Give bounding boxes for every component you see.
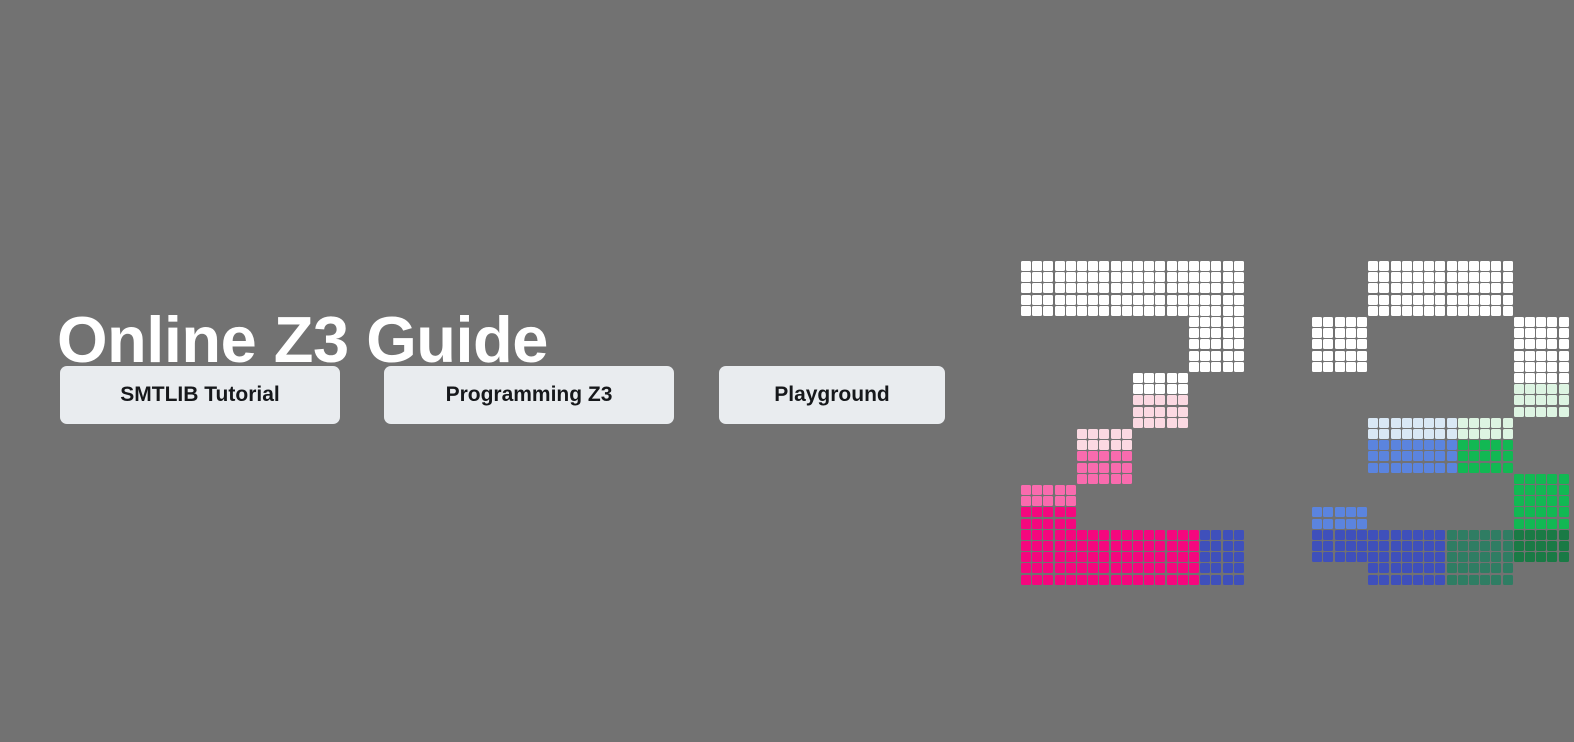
logo-pixel xyxy=(1536,395,1546,405)
logo-pixel xyxy=(1133,530,1143,540)
logo-pixel xyxy=(1088,463,1098,473)
logo-pixel xyxy=(1447,530,1457,540)
logo-pixel xyxy=(1435,451,1445,461)
logo-pixel xyxy=(1111,575,1121,585)
logo-pixel xyxy=(1424,463,1434,473)
logo-pixel xyxy=(1234,317,1244,327)
logo-pixel xyxy=(1312,339,1322,349)
logo-pixel xyxy=(1032,552,1042,562)
logo-pixel xyxy=(1178,541,1188,551)
logo-pixel xyxy=(1447,283,1457,293)
logo-pixel xyxy=(1402,272,1412,282)
logo-pixel xyxy=(1559,317,1569,327)
logo-pixel xyxy=(1447,552,1457,562)
logo-pixel xyxy=(1167,373,1177,383)
logo-pixel xyxy=(1469,418,1479,428)
logo-pixel xyxy=(1559,530,1569,540)
logo-pixel xyxy=(1525,552,1535,562)
logo-pixel xyxy=(1391,563,1401,573)
logo-pixel xyxy=(1155,295,1165,305)
logo-pixel xyxy=(1413,552,1423,562)
logo-pixel xyxy=(1077,541,1087,551)
logo-pixel xyxy=(1346,317,1356,327)
logo-pixel xyxy=(1413,575,1423,585)
logo-pixel xyxy=(1211,283,1221,293)
logo-pixel xyxy=(1547,373,1557,383)
logo-pixel xyxy=(1435,429,1445,439)
logo-pixel xyxy=(1043,496,1053,506)
logo-pixel xyxy=(1111,530,1121,540)
logo-pixel xyxy=(1021,295,1031,305)
logo-pixel xyxy=(1335,328,1345,338)
page-title: Online Z3 Guide xyxy=(57,307,548,372)
logo-pixel xyxy=(1447,418,1457,428)
logo-pixel xyxy=(1547,474,1557,484)
logo-pixel xyxy=(1223,541,1233,551)
logo-pixel xyxy=(1379,272,1389,282)
logo-pixel xyxy=(1122,295,1132,305)
logo-pixel xyxy=(1503,429,1513,439)
logo-pixel xyxy=(1122,530,1132,540)
logo-pixel xyxy=(1491,563,1501,573)
logo-pixel xyxy=(1077,474,1087,484)
logo-pixel xyxy=(1211,552,1221,562)
logo-pixel xyxy=(1458,272,1468,282)
logo-pixel xyxy=(1312,541,1322,551)
logo-pixel xyxy=(1066,272,1076,282)
logo-pixel xyxy=(1379,429,1389,439)
logo-pixel xyxy=(1480,295,1490,305)
logo-pixel xyxy=(1402,463,1412,473)
logo-pixel xyxy=(1435,283,1445,293)
logo-pixel xyxy=(1435,541,1445,551)
logo-pixel xyxy=(1402,451,1412,461)
logo-pixel xyxy=(1178,306,1188,316)
logo-pixel xyxy=(1525,384,1535,394)
logo-pixel xyxy=(1178,395,1188,405)
logo-pixel xyxy=(1335,507,1345,517)
logo-pixel xyxy=(1167,530,1177,540)
logo-pixel xyxy=(1335,351,1345,361)
logo-pixel xyxy=(1491,261,1501,271)
logo-pixel xyxy=(1368,306,1378,316)
logo-pixel xyxy=(1480,283,1490,293)
logo-pixel xyxy=(1346,519,1356,529)
logo-pixel xyxy=(1469,575,1479,585)
logo-pixel xyxy=(1155,575,1165,585)
logo-pixel xyxy=(1379,541,1389,551)
logo-pixel xyxy=(1413,418,1423,428)
logo-pixel xyxy=(1458,418,1468,428)
logo-pixel xyxy=(1323,351,1333,361)
logo-pixel xyxy=(1402,283,1412,293)
logo-pixel xyxy=(1234,563,1244,573)
logo-pixel xyxy=(1223,317,1233,327)
logo-pixel xyxy=(1167,283,1177,293)
logo-pixel xyxy=(1391,429,1401,439)
logo-pixel xyxy=(1032,563,1042,573)
logo-pixel xyxy=(1402,418,1412,428)
logo-pixel xyxy=(1547,395,1557,405)
logo-pixel xyxy=(1435,563,1445,573)
logo-pixel xyxy=(1514,485,1524,495)
logo-pixel xyxy=(1189,328,1199,338)
logo-pixel xyxy=(1099,575,1109,585)
logo-pixel xyxy=(1043,261,1053,271)
logo-pixel xyxy=(1111,272,1121,282)
logo-pixel xyxy=(1559,496,1569,506)
logo-pixel xyxy=(1447,261,1457,271)
logo-pixel xyxy=(1312,519,1322,529)
logo-pixel xyxy=(1200,563,1210,573)
logo-pixel xyxy=(1211,541,1221,551)
smtlib-tutorial-button[interactable]: SMTLIB Tutorial xyxy=(60,366,340,424)
logo-pixel xyxy=(1469,552,1479,562)
logo-pixel xyxy=(1559,395,1569,405)
logo-pixel xyxy=(1536,351,1546,361)
logo-pixel xyxy=(1055,261,1065,271)
logo-pixel xyxy=(1167,552,1177,562)
logo-pixel xyxy=(1391,283,1401,293)
logo-pixel xyxy=(1525,373,1535,383)
logo-pixel xyxy=(1122,563,1132,573)
logo-pixel xyxy=(1099,474,1109,484)
logo-pixel xyxy=(1525,541,1535,551)
logo-pixel xyxy=(1458,541,1468,551)
logo-pixel xyxy=(1559,328,1569,338)
logo-pixel xyxy=(1155,261,1165,271)
logo-pixel xyxy=(1424,306,1434,316)
logo-pixel xyxy=(1021,272,1031,282)
logo-pixel xyxy=(1155,418,1165,428)
logo-pixel xyxy=(1503,418,1513,428)
logo-pixel xyxy=(1088,306,1098,316)
logo-pixel xyxy=(1178,261,1188,271)
logo-pixel xyxy=(1536,519,1546,529)
logo-pixel xyxy=(1559,339,1569,349)
logo-pixel xyxy=(1077,530,1087,540)
logo-pixel xyxy=(1368,575,1378,585)
logo-pixel xyxy=(1480,306,1490,316)
logo-pixel xyxy=(1088,474,1098,484)
logo-pixel xyxy=(1077,306,1087,316)
logo-pixel xyxy=(1357,362,1367,372)
logo-pixel xyxy=(1189,295,1199,305)
logo-pixel xyxy=(1122,552,1132,562)
logo-pixel xyxy=(1200,530,1210,540)
logo-pixel xyxy=(1547,317,1557,327)
logo-pixel xyxy=(1088,451,1098,461)
logo-pixel xyxy=(1088,552,1098,562)
logo-pixel xyxy=(1144,418,1154,428)
logo-pixel xyxy=(1379,463,1389,473)
logo-pixel xyxy=(1223,306,1233,316)
logo-pixel xyxy=(1155,395,1165,405)
logo-pixel xyxy=(1189,563,1199,573)
playground-button[interactable]: Playground xyxy=(719,366,945,424)
logo-pixel xyxy=(1021,519,1031,529)
logo-pixel xyxy=(1122,261,1132,271)
logo-pixel xyxy=(1402,552,1412,562)
logo-pixel xyxy=(1088,530,1098,540)
logo-pixel xyxy=(1424,451,1434,461)
logo-pixel xyxy=(1335,552,1345,562)
logo-pixel xyxy=(1122,306,1132,316)
logo-pixel xyxy=(1178,384,1188,394)
programming-z3-button[interactable]: Programming Z3 xyxy=(384,366,674,424)
logo-pixel xyxy=(1514,407,1524,417)
logo-pixel xyxy=(1032,519,1042,529)
logo-pixel xyxy=(1559,541,1569,551)
logo-pixel xyxy=(1469,261,1479,271)
logo-pixel xyxy=(1357,351,1367,361)
logo-pixel xyxy=(1458,306,1468,316)
logo-pixel xyxy=(1211,530,1221,540)
logo-pixel xyxy=(1503,440,1513,450)
logo-pixel xyxy=(1536,384,1546,394)
logo-pixel xyxy=(1133,575,1143,585)
logo-pixel xyxy=(1021,563,1031,573)
logo-pixel xyxy=(1211,339,1221,349)
logo-pixel xyxy=(1547,496,1557,506)
logo-pixel xyxy=(1189,317,1199,327)
logo-pixel xyxy=(1514,519,1524,529)
logo-pixel xyxy=(1491,418,1501,428)
logo-pixel xyxy=(1144,541,1154,551)
logo-pixel xyxy=(1122,440,1132,450)
logo-pixel xyxy=(1021,496,1031,506)
logo-pixel xyxy=(1088,295,1098,305)
logo-pixel xyxy=(1379,261,1389,271)
logo-pixel xyxy=(1424,563,1434,573)
logo-pixel xyxy=(1021,575,1031,585)
logo-pixel xyxy=(1413,563,1423,573)
logo-pixel xyxy=(1077,563,1087,573)
logo-pixel xyxy=(1234,339,1244,349)
logo-pixel xyxy=(1547,519,1557,529)
logo-pixel xyxy=(1525,496,1535,506)
logo-pixel xyxy=(1200,306,1210,316)
logo-pixel xyxy=(1099,563,1109,573)
logo-pixel xyxy=(1458,295,1468,305)
logo-pixel xyxy=(1223,351,1233,361)
logo-pixel xyxy=(1234,575,1244,585)
logo-pixel xyxy=(1480,272,1490,282)
logo-pixel xyxy=(1514,339,1524,349)
logo-pixel xyxy=(1178,552,1188,562)
logo-pixel xyxy=(1323,541,1333,551)
logo-pixel xyxy=(1043,272,1053,282)
logo-pixel xyxy=(1435,418,1445,428)
z3-pixel-logo xyxy=(1021,261,1521,586)
logo-pixel xyxy=(1066,575,1076,585)
logo-pixel xyxy=(1234,552,1244,562)
logo-pixel xyxy=(1144,563,1154,573)
logo-pixel xyxy=(1424,418,1434,428)
logo-pixel xyxy=(1368,552,1378,562)
logo-pixel xyxy=(1559,407,1569,417)
logo-pixel xyxy=(1480,552,1490,562)
logo-pixel xyxy=(1043,295,1053,305)
logo-pixel xyxy=(1514,351,1524,361)
logo-pixel xyxy=(1379,552,1389,562)
logo-pixel xyxy=(1503,563,1513,573)
logo-pixel xyxy=(1167,563,1177,573)
logo-pixel xyxy=(1413,530,1423,540)
logo-pixel xyxy=(1211,362,1221,372)
logo-pixel xyxy=(1088,440,1098,450)
logo-pixel xyxy=(1402,261,1412,271)
logo-pixel xyxy=(1391,541,1401,551)
logo-pixel xyxy=(1189,351,1199,361)
logo-pixel xyxy=(1559,485,1569,495)
logo-pixel xyxy=(1402,295,1412,305)
logo-pixel xyxy=(1144,283,1154,293)
logo-pixel xyxy=(1514,552,1524,562)
logo-pixel xyxy=(1559,373,1569,383)
logo-pixel xyxy=(1435,440,1445,450)
logo-pixel xyxy=(1447,451,1457,461)
logo-pixel xyxy=(1447,272,1457,282)
logo-pixel xyxy=(1447,463,1457,473)
logo-pixel xyxy=(1458,283,1468,293)
logo-pixel xyxy=(1447,440,1457,450)
logo-pixel xyxy=(1491,272,1501,282)
logo-pixel xyxy=(1144,295,1154,305)
logo-pixel xyxy=(1043,541,1053,551)
logo-pixel xyxy=(1346,351,1356,361)
logo-pixel xyxy=(1223,328,1233,338)
logo-pixel xyxy=(1391,463,1401,473)
logo-pixel xyxy=(1223,563,1233,573)
logo-pixel xyxy=(1368,261,1378,271)
logo-pixel xyxy=(1111,429,1121,439)
logo-pixel xyxy=(1514,362,1524,372)
logo-pixel xyxy=(1346,339,1356,349)
logo-pixel xyxy=(1111,306,1121,316)
logo-pixel xyxy=(1032,575,1042,585)
logo-pixel xyxy=(1346,552,1356,562)
logo-pixel xyxy=(1055,507,1065,517)
logo-pixel xyxy=(1536,328,1546,338)
logo-pixel xyxy=(1077,283,1087,293)
logo-pixel xyxy=(1514,384,1524,394)
logo-pixel xyxy=(1234,283,1244,293)
logo-pixel xyxy=(1368,440,1378,450)
logo-pixel xyxy=(1514,395,1524,405)
logo-pixel xyxy=(1066,306,1076,316)
logo-pixel xyxy=(1223,283,1233,293)
logo-pixel xyxy=(1021,283,1031,293)
logo-pixel xyxy=(1435,552,1445,562)
logo-pixel xyxy=(1144,272,1154,282)
logo-pixel xyxy=(1032,306,1042,316)
logo-pixel xyxy=(1200,541,1210,551)
logo-pixel xyxy=(1335,530,1345,540)
logo-pixel xyxy=(1323,507,1333,517)
logo-pixel xyxy=(1536,362,1546,372)
logo-pixel xyxy=(1547,530,1557,540)
logo-pixel xyxy=(1435,295,1445,305)
logo-pixel xyxy=(1559,384,1569,394)
logo-pixel xyxy=(1514,496,1524,506)
logo-pixel xyxy=(1559,362,1569,372)
logo-pixel xyxy=(1155,407,1165,417)
logo-pixel xyxy=(1155,530,1165,540)
logo-pixel xyxy=(1547,552,1557,562)
logo-pixel xyxy=(1357,552,1367,562)
logo-pixel xyxy=(1066,552,1076,562)
logo-pixel xyxy=(1099,552,1109,562)
logo-pixel xyxy=(1111,463,1121,473)
logo-pixel xyxy=(1536,485,1546,495)
logo-pixel xyxy=(1525,474,1535,484)
logo-pixel xyxy=(1077,295,1087,305)
logo-pixel xyxy=(1357,541,1367,551)
logo-pixel xyxy=(1223,575,1233,585)
logo-pixel xyxy=(1122,451,1132,461)
logo-pixel xyxy=(1155,541,1165,551)
logo-pixel xyxy=(1088,283,1098,293)
logo-pixel xyxy=(1189,283,1199,293)
logo-pixel xyxy=(1211,261,1221,271)
logo-pixel xyxy=(1458,440,1468,450)
logo-pixel xyxy=(1133,295,1143,305)
logo-pixel xyxy=(1133,373,1143,383)
logo-pixel xyxy=(1424,575,1434,585)
logo-pixel xyxy=(1536,373,1546,383)
logo-pixel xyxy=(1525,530,1535,540)
logo-pixel xyxy=(1144,373,1154,383)
logo-pixel xyxy=(1178,295,1188,305)
logo-pixel xyxy=(1503,530,1513,540)
logo-pixel xyxy=(1055,272,1065,282)
logo-pixel xyxy=(1077,261,1087,271)
logo-pixel xyxy=(1357,507,1367,517)
logo-pixel xyxy=(1155,563,1165,573)
logo-pixel xyxy=(1312,351,1322,361)
logo-pixel xyxy=(1391,261,1401,271)
logo-pixel xyxy=(1368,463,1378,473)
logo-pixel xyxy=(1391,272,1401,282)
logo-pixel xyxy=(1200,283,1210,293)
logo-pixel xyxy=(1144,395,1154,405)
logo-pixel xyxy=(1480,451,1490,461)
logo-pixel xyxy=(1525,317,1535,327)
logo-pixel xyxy=(1043,485,1053,495)
logo-pixel xyxy=(1503,272,1513,282)
logo-pixel xyxy=(1491,541,1501,551)
logo-pixel xyxy=(1021,552,1031,562)
logo-pixel xyxy=(1111,440,1121,450)
logo-pixel xyxy=(1021,507,1031,517)
logo-pixel xyxy=(1547,362,1557,372)
logo-pixel xyxy=(1379,283,1389,293)
logo-pixel xyxy=(1525,328,1535,338)
logo-pixel xyxy=(1491,575,1501,585)
logo-pixel xyxy=(1469,563,1479,573)
logo-pixel xyxy=(1469,463,1479,473)
logo-pixel xyxy=(1066,496,1076,506)
logo-pixel xyxy=(1088,429,1098,439)
logo-pixel xyxy=(1480,429,1490,439)
logo-pixel xyxy=(1111,283,1121,293)
logo-pixel xyxy=(1066,283,1076,293)
logo-pixel xyxy=(1200,362,1210,372)
logo-pixel xyxy=(1480,541,1490,551)
logo-pixel xyxy=(1111,474,1121,484)
logo-pixel xyxy=(1043,519,1053,529)
